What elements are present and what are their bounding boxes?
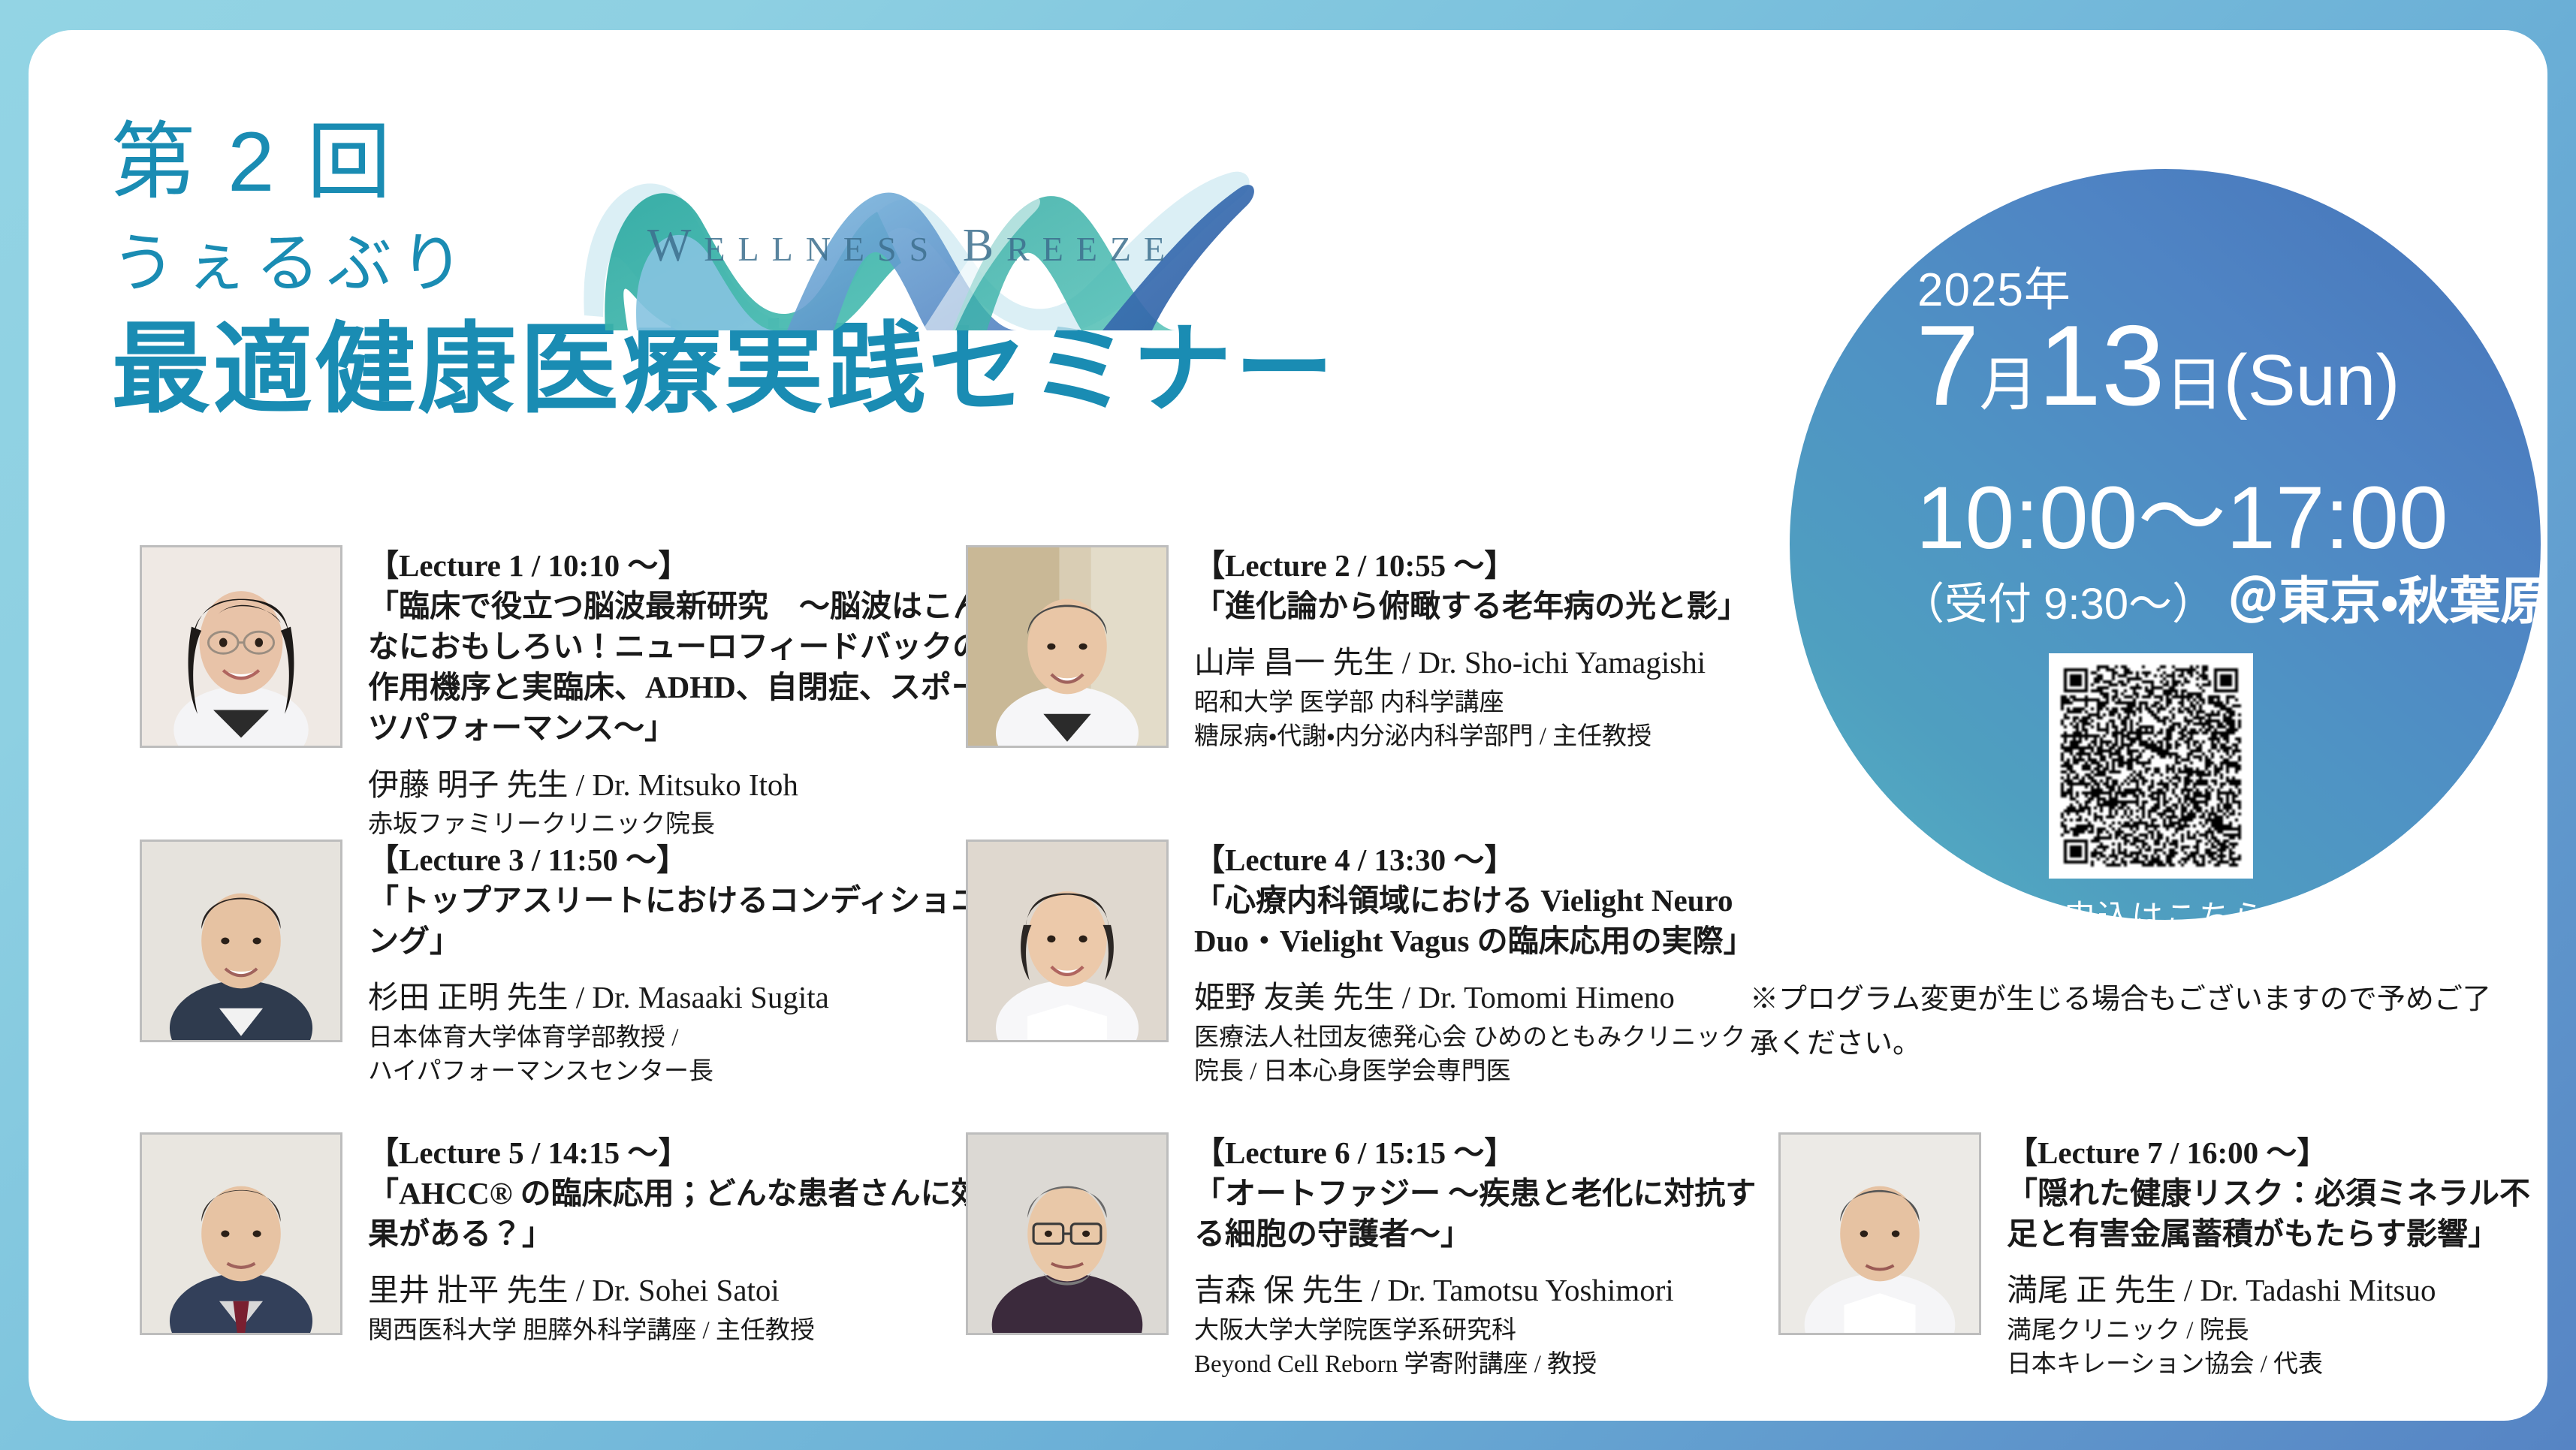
lecture-speaker: 伊藤 明子 先生 / Dr. Mitsuko Itoh <box>368 765 988 805</box>
logo-wordmark-rest-1: ELLNESS <box>704 230 962 268</box>
portrait-mitsuko-itoh <box>140 545 342 748</box>
lecture-card-5: 【Lecture 5 / 14:15 〜】 「AHCC® の臨床応用；どんな患者… <box>140 1132 988 1348</box>
lecture-title: 「進化論から俯瞰する老年病の光と影」 <box>1194 586 1769 626</box>
lecture-title: 「AHCC® の臨床応用；どんな患者さんに効果がある？」 <box>368 1173 988 1254</box>
lecture-speaker: 吉森 保 先生 / Dr. Tamotsu Yoshimori <box>1194 1271 1769 1310</box>
lecture-title: 「トップアスリートにおけるコンディショニング」 <box>368 880 988 961</box>
lecture-affiliation: 大阪大学大学院医学系研究科 Beyond Cell Reborn 学寄附講座 /… <box>1194 1314 1769 1382</box>
lecture-title: 「隠れた健康リスク：必須ミネラル不足と有害金属蓄積がもたらす影響」 <box>2007 1173 2547 1254</box>
logo-wordmark-b: B <box>963 220 1006 271</box>
lecture-heading: 【Lecture 3 / 11:50 〜】 <box>368 840 988 880</box>
lecture-speaker: 里井 壯平 先生 / Dr. Sohei Satoi <box>368 1271 988 1310</box>
lecture-title: 「心療内科領域における Vielight Neuro Duo・Vielight … <box>1194 880 1769 961</box>
lecture-speaker: 満尾 正 先生 / Dr. Tadashi Mitsuo <box>2007 1271 2547 1310</box>
date-main: 7月13日(Sun) <box>1916 304 2400 427</box>
date-month-number: 7 <box>1916 302 1980 430</box>
lecture-title: 「臨床で役立つ脳波最新研究 〜脳波はこんなにおもしろい！ニューロフィードバックの… <box>368 586 988 748</box>
lecture-affiliation: 昭和大学 医学部 内科学講座 糖尿病・代謝・内分泌内科学部門 / 主任教授 <box>1194 686 1769 755</box>
lecture-heading: 【Lecture 2 / 10:55 〜】 <box>1194 545 1769 586</box>
lecture-affiliation: 満尾クリニック / 院長 日本キレーション協会 / 代表 <box>2007 1314 2547 1382</box>
flyer-card: 第 2 回 うぇるぶり 最適健康医療実践セミナー <box>29 30 2547 1421</box>
lecture-affiliation: 医療法人社団友徳発心会 ひめのともみクリニック 院長 / 日本心身医学会専門医 <box>1194 1021 1769 1090</box>
flyer-root: 第 2 回 うぇるぶり 最適健康医療実践セミナー <box>0 0 2576 1450</box>
portrait-sohei-satoi <box>140 1132 342 1335</box>
page-title: 最適健康医療実践セミナー <box>111 320 1801 419</box>
date-day-number: 13 <box>2038 302 2165 430</box>
lecture-text-4: 【Lecture 4 / 13:30 〜】 「心療内科領域における Vielig… <box>1194 840 1769 1090</box>
date-day-of-week: (Sun) <box>2224 340 2400 421</box>
lecture-title: 「オートファジー 〜疾患と老化に対抗する細胞の守護者〜」 <box>1194 1173 1769 1254</box>
header-block: 第 2 回 うぇるぶり 最適健康医療実践セミナー <box>111 120 1801 496</box>
lecture-card-6: 【Lecture 6 / 15:15 〜】 「オートファジー 〜疾患と老化に対抗… <box>966 1132 1769 1382</box>
lecture-heading: 【Lecture 7 / 16:00 〜】 <box>2007 1132 2547 1173</box>
lecture-heading: 【Lecture 6 / 15:15 〜】 <box>1194 1132 1769 1173</box>
logo-wordmark: WELLNESS BREEZE <box>586 219 1239 273</box>
lecture-text-2: 【Lecture 2 / 10:55 〜】 「進化論から俯瞰する老年病の光と影」… <box>1194 545 1769 755</box>
portrait-tamotsu-yoshimori <box>966 1132 1169 1335</box>
lecture-affiliation: 日本体育大学体育学部教授 / ハイパフォーマンスセンター長 <box>368 1021 988 1090</box>
venue-label: ＠東京・秋葉原 <box>2228 573 2547 630</box>
portrait-shoichi-yamagishi <box>966 545 1169 748</box>
lecture-text-5: 【Lecture 5 / 14:15 〜】 「AHCC® の臨床応用；どんな患者… <box>368 1132 988 1348</box>
lecture-card-7: 【Lecture 7 / 16:00 〜】 「隠れた健康リスク：必須ミネラル不足… <box>1778 1132 2547 1382</box>
header-edition: 第 2 回 <box>111 120 1801 209</box>
date-circle: 2025年 7月13日(Sun) 10:00〜17:00 （受付 9:30〜） … <box>1790 169 2541 920</box>
lecture-affiliation: 関西医科大学 胆膵外科学講座 / 主任教授 <box>368 1314 988 1349</box>
date-day-unit: 日 <box>2165 351 2224 418</box>
lecture-speaker: 山岸 昌一 先生 / Dr. Sho-ichi Yamagishi <box>1194 643 1769 683</box>
qr-code[interactable] <box>2049 653 2253 879</box>
lecture-card-2: 【Lecture 2 / 10:55 〜】 「進化論から俯瞰する老年病の光と影」… <box>966 545 1769 755</box>
qr-caption: ▲ 参加申込はこちらから ▲ <box>1790 891 2541 937</box>
program-change-note: ※プログラム変更が生じる場合もございますので予めご了承ください。 <box>1750 978 2508 1066</box>
lecture-card-1: 【Lecture 1 / 10:10 〜】 「臨床で役立つ脳波最新研究 〜脳波は… <box>140 545 988 842</box>
date-time-range: 10:00〜17:00 <box>1916 445 2448 574</box>
date-month-unit: 月 <box>1980 351 2038 418</box>
lecture-text-1: 【Lecture 1 / 10:10 〜】 「臨床で役立つ脳波最新研究 〜脳波は… <box>368 545 988 842</box>
portrait-tomomi-himeno <box>966 840 1169 1042</box>
lecture-speaker: 姫野 友美 先生 / Dr. Tomomi Himeno <box>1194 978 1769 1017</box>
lecture-card-3: 【Lecture 3 / 11:50 〜】 「トップアスリートにおけるコンディシ… <box>140 840 988 1090</box>
lecture-text-6: 【Lecture 6 / 15:15 〜】 「オートファジー 〜疾患と老化に対抗… <box>1194 1132 1769 1382</box>
lecture-card-4: 【Lecture 4 / 13:30 〜】 「心療内科領域における Vielig… <box>966 840 1769 1090</box>
reception-time: （受付 9:30〜） <box>1901 580 2216 629</box>
qr-code-image[interactable] <box>2058 662 2244 870</box>
lecture-affiliation: 赤坂ファミリークリニック院長 <box>368 808 988 843</box>
logo-wordmark-w: W <box>647 220 704 271</box>
lecture-speaker: 杉田 正明 先生 / Dr. Masaaki Sugita <box>368 978 988 1017</box>
lecture-heading: 【Lecture 4 / 13:30 〜】 <box>1194 840 1769 880</box>
lecture-text-3: 【Lecture 3 / 11:50 〜】 「トップアスリートにおけるコンディシ… <box>368 840 988 1090</box>
lecture-heading: 【Lecture 5 / 14:15 〜】 <box>368 1132 988 1173</box>
portrait-tadashi-mitsuo <box>1778 1132 1981 1335</box>
logo-wordmark-rest-2: REEZE <box>1006 230 1178 268</box>
lecture-text-7: 【Lecture 7 / 16:00 〜】 「隠れた健康リスク：必須ミネラル不足… <box>2007 1132 2547 1382</box>
date-sub-line: （受付 9:30〜） ＠東京・秋葉原 <box>1901 559 2547 634</box>
portrait-masaaki-sugita <box>140 840 342 1042</box>
lecture-heading: 【Lecture 1 / 10:10 〜】 <box>368 545 988 586</box>
